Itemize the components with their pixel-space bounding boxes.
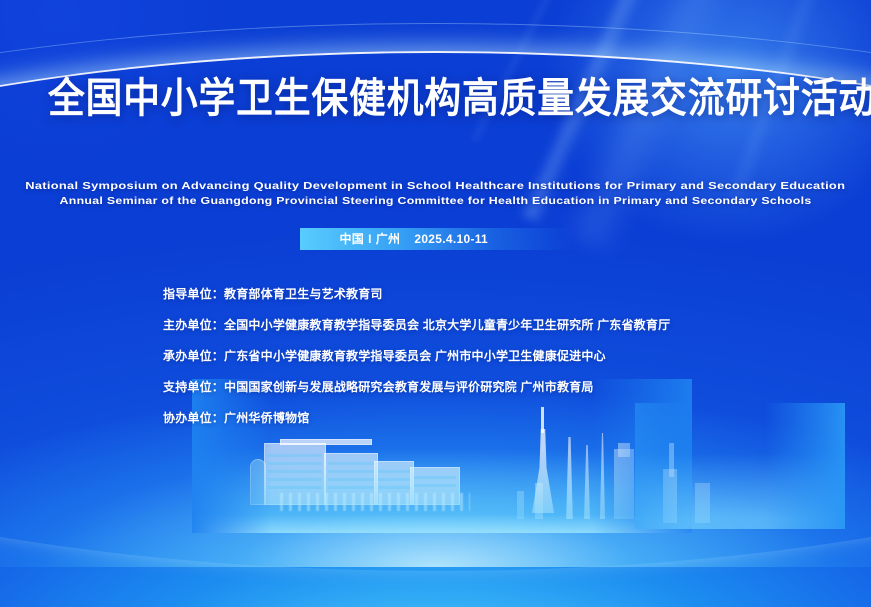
landmark-tower: [614, 449, 634, 519]
organization-row: 指导单位：教育部体育卫生与艺术教育司: [0, 288, 871, 300]
organization-label: 主办单位：: [163, 318, 224, 332]
organizations-list: 指导单位：教育部体育卫生与艺术教育司 主办单位：全国中小学健康教育教学指导委员会…: [0, 288, 871, 443]
landmark-tower: [517, 491, 524, 519]
event-info-badge-text: 中国I广州2025.4.10-11: [340, 228, 489, 250]
conference-poster: 全国中小学卫生保健机构高质量发展交流研讨活动 暨广东省中小学健康教育教学指导委员…: [0, 0, 871, 607]
organization-label: 支持单位：: [163, 380, 224, 394]
badge-city: 广州: [376, 232, 401, 246]
landmark-tower: [618, 443, 630, 457]
organization-row: 主办单位：全国中小学健康教育教学指导委员会 北京大学儿童青少年卫生研究所 广东省…: [0, 319, 871, 331]
landmark-tower: [598, 433, 607, 519]
organization-value: 广东省中小学健康教育教学指导委员会 广州市中小学卫生健康促进中心: [224, 349, 606, 363]
badge-separator: I: [364, 232, 376, 246]
distant-tower: [669, 443, 674, 477]
badge-date: 2025.4.10-11: [400, 232, 488, 246]
students-crowd-illustration: [280, 493, 470, 511]
event-info-badge: 中国I广州2025.4.10-11: [300, 228, 572, 250]
english-subtitle-line-1: National Symposium on Advancing Quality …: [0, 180, 871, 192]
organization-value: 广州华侨博物馆: [224, 411, 309, 425]
light-streak-decoration: [469, 0, 570, 144]
main-title-line-1: 全国中小学卫生保健机构高质量发展交流研讨活动: [0, 78, 871, 119]
event-info-badge-wrap: 中国I广州2025.4.10-11: [0, 228, 871, 250]
distant-tower: [663, 469, 677, 523]
organization-label: 指导单位：: [163, 287, 224, 301]
badge-country: 中国: [340, 232, 365, 246]
landmark-tower: [582, 445, 592, 519]
distant-tower: [695, 483, 710, 523]
english-subtitle-line-2: Annual Seminar of the Guangdong Provinci…: [0, 195, 871, 207]
organization-label: 协办单位：: [163, 411, 224, 425]
organization-value: 中国国家创新与发展战略研究会教育发展与评价研究院 广州市教育局: [224, 380, 594, 394]
organization-row: 协办单位：广州华侨博物馆: [0, 412, 871, 424]
organization-row: 支持单位：中国国家创新与发展战略研究会教育发展与评价研究院 广州市教育局: [0, 381, 871, 393]
landmark-tower: [535, 483, 543, 519]
light-streak-decoration: [562, 0, 755, 255]
landmark-tower: [564, 437, 575, 519]
organization-row: 承办单位：广东省中小学健康教育教学指导委员会 广州市中小学卫生健康促进中心: [0, 350, 871, 362]
organization-value: 教育部体育卫生与艺术教育司: [224, 287, 383, 301]
organization-value: 全国中小学健康教育教学指导委员会 北京大学儿童青少年卫生研究所 广东省教育厅: [224, 318, 670, 332]
main-title-line-2: 暨广东省中小学健康教育教学指导委员会年度研讨活动: [0, 131, 871, 170]
organization-label: 承办单位：: [163, 349, 224, 363]
